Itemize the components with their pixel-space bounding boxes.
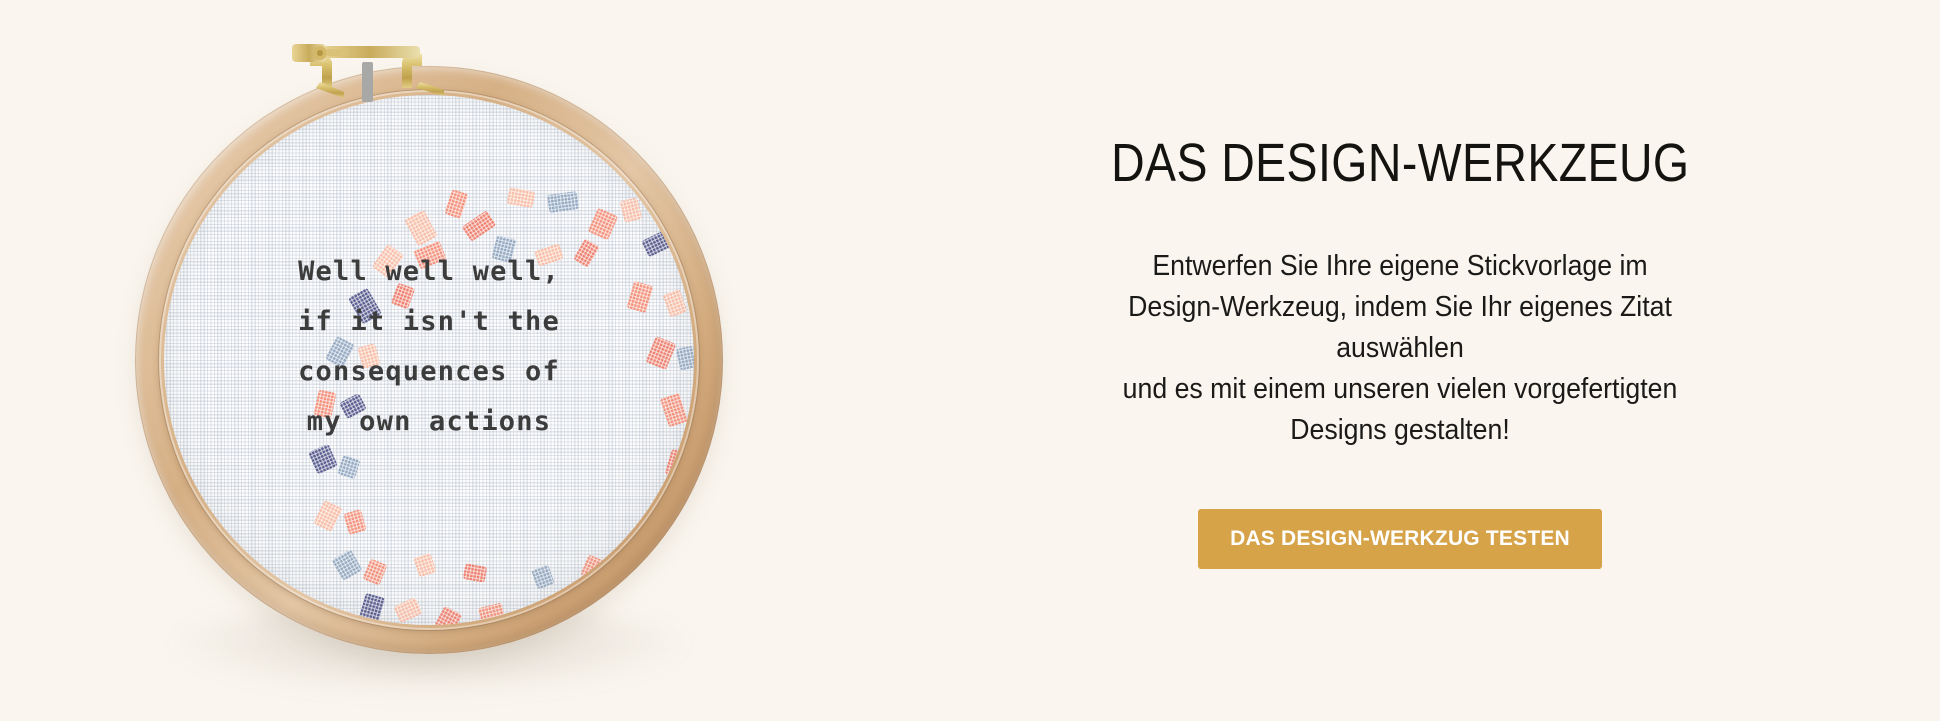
aida-fabric: Well well well, if it isn't the conseque…: [164, 95, 694, 625]
page-title: DAS DESIGN-WERKZEUG: [1111, 0, 1689, 194]
stitched-quote: Well well well, if it isn't the conseque…: [164, 247, 694, 447]
hoop-product-image: Well well well, if it isn't the conseque…: [0, 0, 860, 721]
hoop-brass-hardware-icon: [286, 28, 456, 102]
description-line: Design-Werkzeug, indem Sie Ihr eigenes Z…: [1078, 287, 1722, 369]
quote-line: Well well well,: [164, 247, 694, 297]
promo-description: Entwerfen Sie Ihre eigene Stickvorlage i…: [1078, 194, 1722, 451]
description-line: Entwerfen Sie Ihre eigene Stickvorlage i…: [1078, 246, 1722, 287]
quote-line: if it isn't the: [164, 297, 694, 347]
quote-line: consequences of: [164, 347, 694, 397]
description-line: Designs gestalten!: [1078, 410, 1722, 451]
try-design-tool-button[interactable]: DAS DESIGN-WERKZUG TESTEN: [1198, 509, 1602, 569]
quote-line: my own actions: [164, 397, 694, 447]
description-line: und es mit einem unseren vielen vorgefer…: [1078, 369, 1722, 410]
design-tool-promo-hero: Well well well, if it isn't the conseque…: [0, 0, 1940, 721]
promo-copy-column: DAS DESIGN-WERKZEUG Entwerfen Sie Ihre e…: [860, 0, 1940, 721]
